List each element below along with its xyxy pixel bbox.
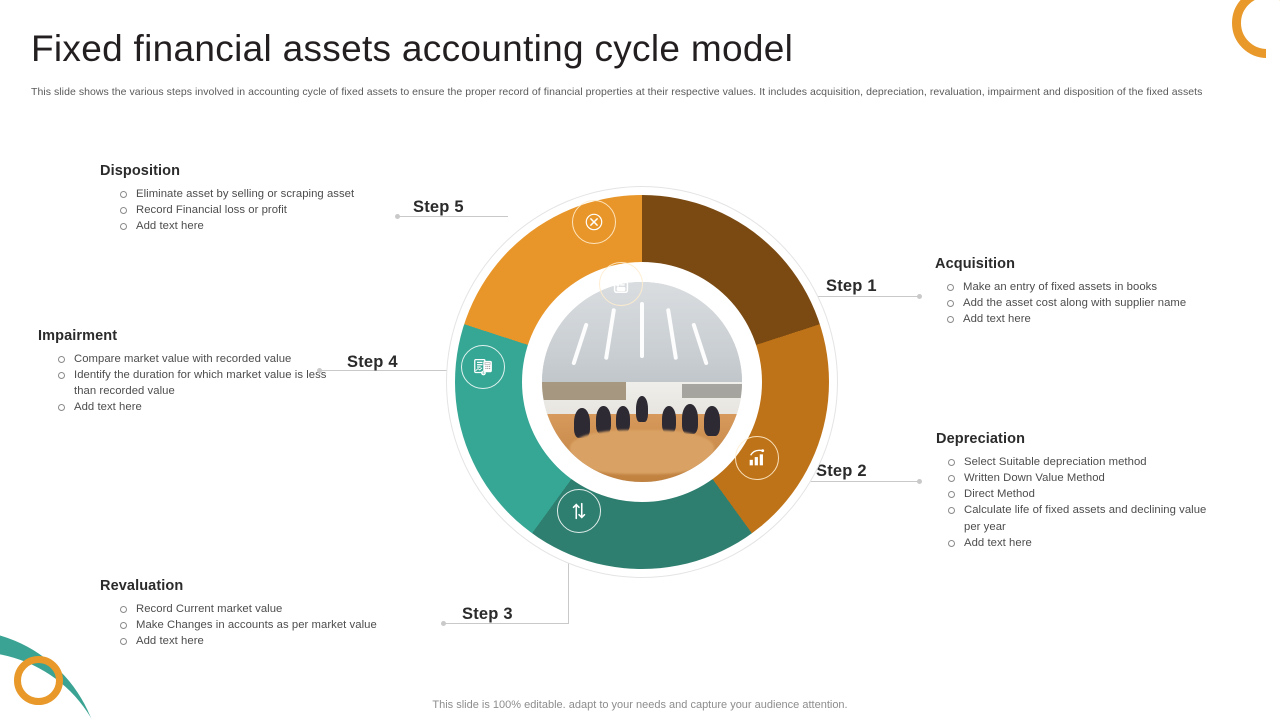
list-item: Eliminate asset by selling or scraping a… xyxy=(116,186,400,202)
photo-person xyxy=(616,406,630,432)
list-item-text: Add text here xyxy=(74,401,142,413)
bullet-icon xyxy=(58,404,65,411)
block-depreciation: Depreciation Select Suitable depreciatio… xyxy=(936,431,1226,551)
page-title: Fixed financial assets accounting cycle … xyxy=(31,28,793,70)
center-photo xyxy=(542,282,742,482)
list-item-text: Record Financial loss or profit xyxy=(136,204,287,216)
step-4-icon-button[interactable]: $ xyxy=(461,345,505,389)
list-item-text: Record Current market value xyxy=(136,603,282,615)
circle-x-icon xyxy=(583,211,605,233)
list-item-text: Make Changes in accounts as per market v… xyxy=(136,619,377,631)
block-acquisition-heading: Acquisition xyxy=(935,256,1235,272)
block-impairment-list: Compare market value with recorded value… xyxy=(54,351,338,416)
bullet-icon xyxy=(947,300,954,307)
connector-dot-step-1 xyxy=(917,294,922,299)
block-revaluation-list: Record Current market value Make Changes… xyxy=(116,601,420,649)
bullet-icon xyxy=(948,540,955,547)
svg-text:$: $ xyxy=(483,371,485,375)
list-item: Add text here xyxy=(944,535,1226,551)
list-item-text: Direct Method xyxy=(964,488,1035,500)
list-item-text: Calculate life of fixed assets and decli… xyxy=(964,504,1206,532)
list-item-text: Written Down Value Method xyxy=(964,472,1105,484)
block-disposition-heading: Disposition xyxy=(100,163,400,179)
list-item: Add text here xyxy=(116,633,420,649)
photo-person xyxy=(574,408,590,438)
list-item-text: Make an entry of fixed assets in books xyxy=(963,281,1157,293)
list-item-text: Add text here xyxy=(136,635,204,647)
bullet-icon xyxy=(120,638,127,645)
list-item-text: Add text here xyxy=(963,313,1031,325)
bullet-icon xyxy=(120,606,127,613)
photo-wall-panel xyxy=(682,384,742,398)
bullet-icon xyxy=(948,491,955,498)
bullet-icon xyxy=(948,507,955,514)
connector-dot-step-5 xyxy=(395,214,400,219)
block-acquisition-list: Make an entry of fixed assets in books A… xyxy=(943,279,1235,327)
list-item: Record Financial loss or profit xyxy=(116,202,400,218)
bullet-icon xyxy=(120,223,127,230)
decor-bottom-left-ring xyxy=(14,656,63,705)
step-label-4[interactable]: Step 4 xyxy=(347,353,398,372)
bullet-icon xyxy=(58,356,65,363)
list-item: Add text here xyxy=(116,218,400,234)
footer-note: This slide is 100% editable. adapt to yo… xyxy=(0,699,1280,711)
step-3-icon-button[interactable] xyxy=(557,489,601,533)
list-item-text: Eliminate asset by selling or scraping a… xyxy=(136,188,354,200)
list-item: Make an entry of fixed assets in books xyxy=(943,279,1235,295)
list-item-text: Identify the duration for which market v… xyxy=(74,369,327,397)
block-disposition: Disposition Eliminate asset by selling o… xyxy=(100,163,400,234)
photo-room xyxy=(542,282,742,482)
list-item-text: Select Suitable depreciation method xyxy=(964,456,1147,468)
bullet-icon xyxy=(120,207,127,214)
slide-root: Fixed financial assets accounting cycle … xyxy=(0,0,1280,720)
clipboard-list-icon xyxy=(610,273,632,295)
photo-person xyxy=(662,406,676,433)
list-item: Add the asset cost along with supplier n… xyxy=(943,295,1235,311)
list-item: Select Suitable depreciation method xyxy=(944,454,1226,470)
step-5-icon-button[interactable] xyxy=(572,200,616,244)
photo-person xyxy=(596,406,611,434)
list-item: Add text here xyxy=(54,399,338,415)
block-revaluation-heading: Revaluation xyxy=(100,578,420,594)
block-acquisition: Acquisition Make an entry of fixed asset… xyxy=(935,256,1235,327)
step-label-3[interactable]: Step 3 xyxy=(462,605,513,624)
list-item: Add text here xyxy=(943,311,1235,327)
block-disposition-list: Eliminate asset by selling or scraping a… xyxy=(116,186,400,234)
list-item: Written Down Value Method xyxy=(944,470,1226,486)
connector-dot-step-4 xyxy=(317,368,322,373)
list-item: Identify the duration for which market v… xyxy=(54,367,338,399)
block-impairment: Impairment Compare market value with rec… xyxy=(38,328,338,416)
up-down-arrows-icon xyxy=(568,500,590,522)
list-item-text: Add text here xyxy=(136,220,204,232)
list-item: Record Current market value xyxy=(116,601,420,617)
document-calculator-icon: $ xyxy=(472,356,494,378)
block-revaluation: Revaluation Record Current market value … xyxy=(100,578,420,649)
photo-wall-panel xyxy=(542,382,626,400)
connector-dot-step-3 xyxy=(441,621,446,626)
decor-top-right-ring-mask xyxy=(1266,18,1280,66)
bullet-icon xyxy=(58,372,65,379)
list-item-text: Add the asset cost along with supplier n… xyxy=(963,297,1186,309)
photo-person xyxy=(636,396,648,422)
bullet-icon xyxy=(948,459,955,466)
list-item-text: Add text here xyxy=(964,537,1032,549)
step-2-icon-button[interactable] xyxy=(735,436,779,480)
bullet-icon xyxy=(947,284,954,291)
photo-person xyxy=(704,406,720,436)
bar-chart-growth-icon xyxy=(746,447,768,469)
list-item: Calculate life of fixed assets and decli… xyxy=(944,502,1226,534)
list-item-text: Compare market value with recorded value xyxy=(74,353,291,365)
step-1-icon-button[interactable] xyxy=(599,262,643,306)
bullet-icon xyxy=(948,475,955,482)
block-depreciation-heading: Depreciation xyxy=(936,431,1226,447)
block-depreciation-list: Select Suitable depreciation method Writ… xyxy=(944,454,1226,551)
connector-dot-step-2 xyxy=(917,479,922,484)
photo-person xyxy=(682,404,698,434)
list-item: Compare market value with recorded value xyxy=(54,351,338,367)
bullet-icon xyxy=(120,622,127,629)
bullet-icon xyxy=(120,191,127,198)
page-subtitle: This slide shows the various steps invol… xyxy=(31,85,1203,100)
bullet-icon xyxy=(947,316,954,323)
cycle-diagram: $ xyxy=(447,187,837,577)
block-impairment-heading: Impairment xyxy=(38,328,338,344)
photo-table xyxy=(570,430,714,474)
list-item: Direct Method xyxy=(944,486,1226,502)
photo-light xyxy=(640,302,644,358)
list-item: Make Changes in accounts as per market v… xyxy=(116,617,420,633)
